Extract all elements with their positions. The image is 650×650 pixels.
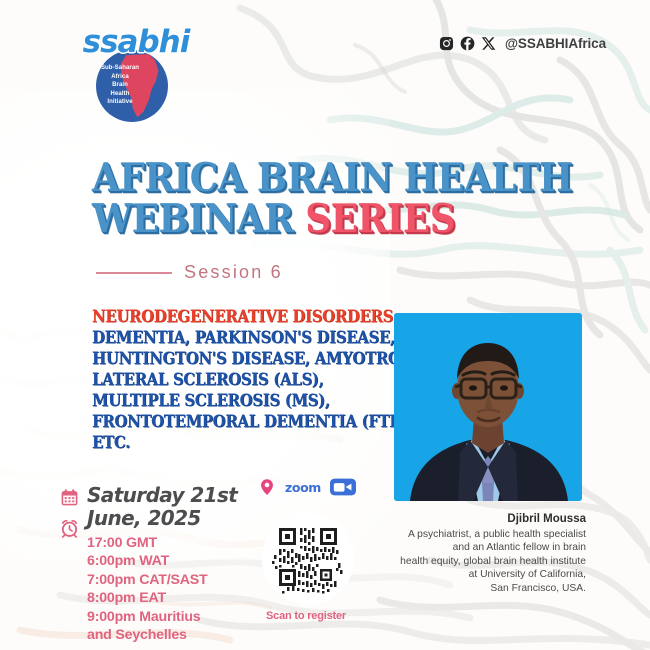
qr-caption: Scan to register	[254, 610, 358, 622]
topic-line: MULTIPLE SCLEROSIS (MS),	[92, 390, 367, 411]
speaker-bio-line: and an Atlantic fellow in brain	[376, 541, 586, 554]
list-item: 7:00pm CAT/SAST	[87, 571, 237, 589]
social-handle-text: @SSABHIAfrica	[505, 36, 606, 51]
logo-subtitle-line: Africa	[100, 73, 140, 82]
ssabhi-logo: Sub-Saharan Africa Brain Health Initiati…	[82, 24, 190, 122]
schedule-text: Saturday 21st June, 2025 17:00 GMT 6:00p…	[87, 484, 237, 644]
session-divider-line	[96, 272, 172, 274]
topic-line: HUNTINGTON'S DISEASE, AMYOTROPHIC	[92, 348, 367, 369]
timezone-list: 17:00 GMT 6:00pm WAT 7:00pm CAT/SAST 8:0…	[87, 534, 237, 644]
logo-wordmark: ssabhi	[82, 24, 190, 60]
video-camera-icon	[330, 478, 356, 496]
schedule-block: Saturday 21st June, 2025 17:00 GMT 6:00p…	[60, 484, 237, 644]
facebook-icon[interactable]	[460, 36, 475, 51]
speaker-bio: A psychiatrist, a public health speciali…	[376, 528, 586, 595]
instagram-icon[interactable]	[439, 36, 454, 51]
speaker-bio-line: health equity, global brain health insti…	[376, 555, 586, 568]
speaker-info: Djibril Moussa A psychiatrist, a public …	[376, 513, 586, 595]
speaker-photo	[394, 313, 582, 501]
logo-subtitle-line: Initiative	[100, 98, 140, 107]
x-twitter-icon[interactable]	[481, 36, 496, 51]
title-line-1: AFRICA BRAIN HEALTH	[92, 158, 572, 199]
topic-line: LATERAL SCLEROSIS (ALS),	[92, 369, 367, 390]
globe-icon: Sub-Saharan Africa Brain Health Initiati…	[96, 50, 168, 122]
speaker-bio-line: at University of California,	[376, 568, 586, 581]
topic-line: DEMENTIA, PARKINSON'S DISEASE,	[92, 327, 367, 348]
social-handles: @SSABHIAfrica	[439, 36, 606, 51]
title-series-word: SERIES	[305, 196, 455, 242]
event-date: Saturday 21st June, 2025	[87, 484, 237, 530]
alarm-clock-icon	[60, 519, 79, 538]
zoom-wordmark: zoom	[285, 480, 321, 495]
list-item: and Seychelles	[87, 626, 237, 644]
session-topic: NEURODEGENERATIVE DISORDERS: DEMENTIA, P…	[92, 306, 398, 453]
list-item: 9:00pm Mauritius	[87, 608, 237, 626]
schedule-icons	[60, 484, 79, 644]
event-date-line: June, 2025	[87, 507, 237, 530]
qr-code-image[interactable]	[262, 513, 354, 605]
calendar-icon	[60, 488, 79, 507]
logo-subtitle-line: Sub-Saharan	[100, 64, 140, 73]
list-item: 8:00pm EAT	[87, 589, 237, 607]
platform-badge: zoom	[258, 478, 356, 496]
logo-subtitle-line: Health	[100, 90, 140, 99]
session-label: Session 6	[184, 262, 283, 283]
topic-line: ETC.	[92, 432, 367, 453]
logo-subtitle-line: Brain	[100, 81, 140, 90]
event-date-line: Saturday 21st	[87, 484, 237, 507]
session-indicator: Session 6	[96, 262, 283, 283]
speaker-name: Djibril Moussa	[376, 513, 586, 525]
logo-subtitle: Sub-Saharan Africa Brain Health Initiati…	[100, 64, 140, 107]
title-webinar-word: WEBINAR	[92, 196, 305, 242]
qr-registration[interactable]: Scan to register	[258, 513, 358, 622]
webinar-poster: Sub-Saharan Africa Brain Health Initiati…	[0, 0, 650, 650]
poster-title: AFRICA BRAIN HEALTH WEBINAR SERIES	[92, 158, 614, 240]
speaker-bio-line: San Francisco, USA.	[376, 582, 586, 595]
list-item: 6:00pm WAT	[87, 552, 237, 570]
title-line-2: WEBINAR SERIES	[92, 199, 572, 240]
topic-line: FRONTOTEMPORAL DEMENTIA (FTD),	[92, 411, 367, 432]
speaker-bio-line: A psychiatrist, a public health speciali…	[376, 528, 586, 541]
topic-line: NEURODEGENERATIVE DISORDERS:	[92, 306, 367, 327]
location-pin-icon	[258, 478, 276, 496]
list-item: 17:00 GMT	[87, 534, 237, 552]
